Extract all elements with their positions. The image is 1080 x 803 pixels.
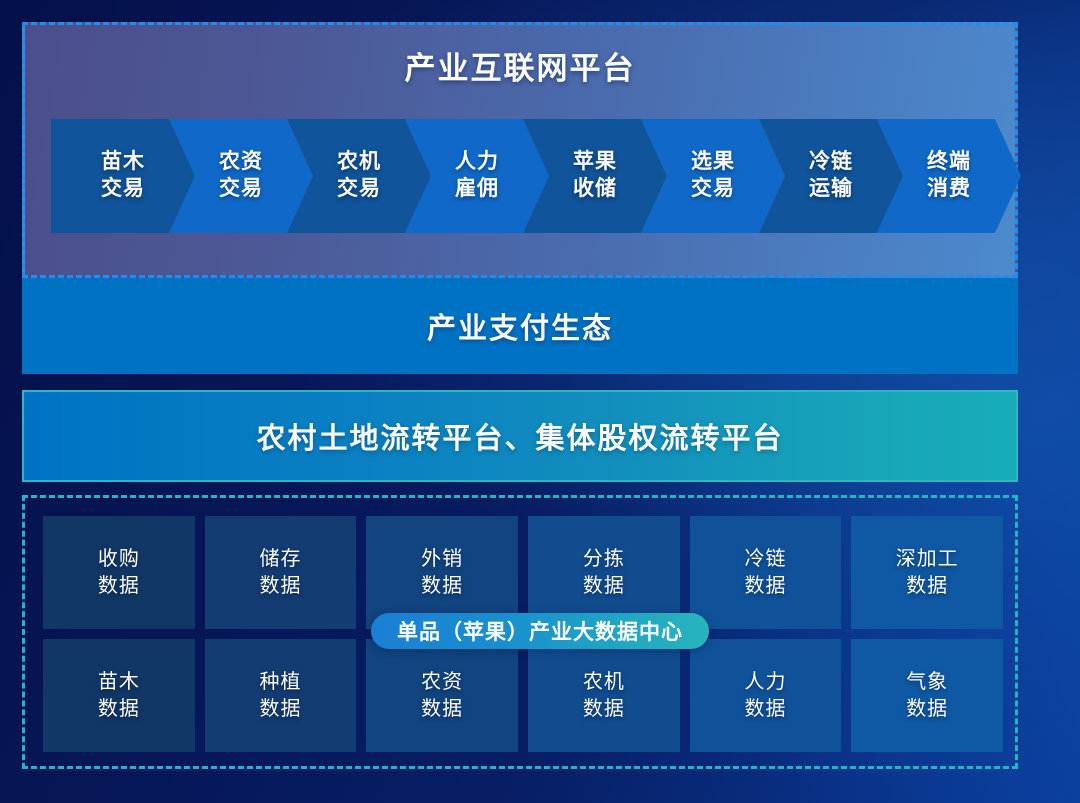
flow-step-line2: 运输 [809, 176, 853, 203]
data-card[interactable]: 人力数据 [690, 639, 842, 752]
page-title: 产业互联网平台 [25, 43, 1015, 88]
flow-step-label: 人力雇佣 [455, 149, 499, 203]
data-card-line1: 农资 [421, 669, 463, 696]
data-card-line1: 储存 [260, 546, 302, 573]
data-card-row: 苗木数据种植数据农资数据农机数据人力数据气象数据 [43, 639, 1003, 752]
flow-step-line1: 选果 [691, 149, 735, 176]
big-data-center-badge: 单品（苹果）产业大数据中心 [371, 613, 709, 649]
data-card-line2: 数据 [745, 696, 787, 723]
data-card-line1: 人力 [745, 669, 787, 696]
data-card-line1: 气象 [906, 669, 948, 696]
data-card[interactable]: 深加工数据 [851, 516, 1003, 629]
flow-step-line1: 苗木 [101, 149, 145, 176]
data-card-text: 农机数据 [583, 669, 625, 723]
flow-step-line2: 消费 [927, 176, 971, 203]
data-card-text: 种植数据 [260, 669, 302, 723]
data-card[interactable]: 冷链数据 [690, 516, 842, 629]
data-card-text: 农资数据 [421, 669, 463, 723]
data-card-line1: 深加工 [896, 546, 959, 573]
data-card-line2: 数据 [583, 573, 625, 600]
data-card-text: 深加工数据 [896, 546, 959, 600]
flow-step-label: 农机交易 [337, 149, 381, 203]
data-card[interactable]: 储存数据 [205, 516, 357, 629]
data-card-text: 储存数据 [260, 546, 302, 600]
diagram-canvas: 产业互联网平台 苗木交易农资交易农机交易人力雇佣苹果收储选果交易冷链运输终端消费… [0, 0, 1080, 803]
flow-step-line2: 交易 [691, 176, 735, 203]
data-card-line1: 收购 [98, 546, 140, 573]
flow-step-label: 选果交易 [691, 149, 735, 203]
big-data-center-label: 单品（苹果）产业大数据中心 [397, 616, 683, 646]
flow-step-line1: 冷链 [809, 149, 853, 176]
data-card-line2: 数据 [745, 573, 787, 600]
data-card-line2: 数据 [260, 573, 302, 600]
payment-ecosystem-bar: 产业支付生态 [22, 278, 1018, 374]
data-card-line1: 外销 [421, 546, 463, 573]
flow-step-label: 苹果收储 [573, 149, 617, 203]
data-card-text: 人力数据 [745, 669, 787, 723]
flow-step-line2: 交易 [337, 176, 381, 203]
data-card[interactable]: 农资数据 [366, 639, 518, 752]
flow-step-line1: 人力 [455, 149, 499, 176]
flow-step-line2: 交易 [219, 176, 263, 203]
flow-step-label: 终端消费 [927, 149, 971, 203]
data-card[interactable]: 气象数据 [851, 639, 1003, 752]
data-card-line1: 种植 [260, 669, 302, 696]
flow-step-line1: 终端 [927, 149, 971, 176]
flow-step-line2: 交易 [101, 176, 145, 203]
data-card-text: 气象数据 [906, 669, 948, 723]
flow-step-line1: 农资 [219, 149, 263, 176]
data-card-line2: 数据 [906, 696, 948, 723]
data-card-text: 收购数据 [98, 546, 140, 600]
flow-step-1[interactable]: 苗木交易 [51, 119, 195, 233]
value-chain-flow: 苗木交易农资交易农机交易人力雇佣苹果收储选果交易冷链运输终端消费 [51, 119, 995, 233]
data-card[interactable]: 农机数据 [528, 639, 680, 752]
data-card-line2: 数据 [896, 573, 959, 600]
data-card-text: 冷链数据 [745, 546, 787, 600]
flow-step-label: 农资交易 [219, 149, 263, 203]
flow-step-line1: 苹果 [573, 149, 617, 176]
data-card[interactable]: 苗木数据 [43, 639, 195, 752]
data-card-line1: 冷链 [745, 546, 787, 573]
data-card[interactable]: 种植数据 [205, 639, 357, 752]
data-card-text: 外销数据 [421, 546, 463, 600]
data-card-line1: 分拣 [583, 546, 625, 573]
data-card-line2: 数据 [421, 696, 463, 723]
land-transfer-platform-bar: 农村土地流转平台、集体股权流转平台 [22, 390, 1018, 482]
flow-step-label: 冷链运输 [809, 149, 853, 203]
flow-step-line1: 农机 [337, 149, 381, 176]
data-card-text: 苗木数据 [98, 669, 140, 723]
flow-step-line2: 雇佣 [455, 176, 499, 203]
data-card-line2: 数据 [260, 696, 302, 723]
data-card-text: 分拣数据 [583, 546, 625, 600]
payment-ecosystem-label: 产业支付生态 [427, 305, 613, 347]
data-card-line2: 数据 [98, 573, 140, 600]
data-card-line1: 农机 [583, 669, 625, 696]
data-card-line2: 数据 [421, 573, 463, 600]
data-card-line2: 数据 [583, 696, 625, 723]
flow-step-line2: 收储 [573, 176, 617, 203]
land-transfer-platform-label: 农村土地流转平台、集体股权流转平台 [256, 415, 783, 457]
data-card[interactable]: 收购数据 [43, 516, 195, 629]
industrial-internet-platform-panel: 产业互联网平台 苗木交易农资交易农机交易人力雇佣苹果收储选果交易冷链运输终端消费 [22, 22, 1018, 278]
data-card-line2: 数据 [98, 696, 140, 723]
flow-step-label: 苗木交易 [101, 149, 145, 203]
data-card-line1: 苗木 [98, 669, 140, 696]
